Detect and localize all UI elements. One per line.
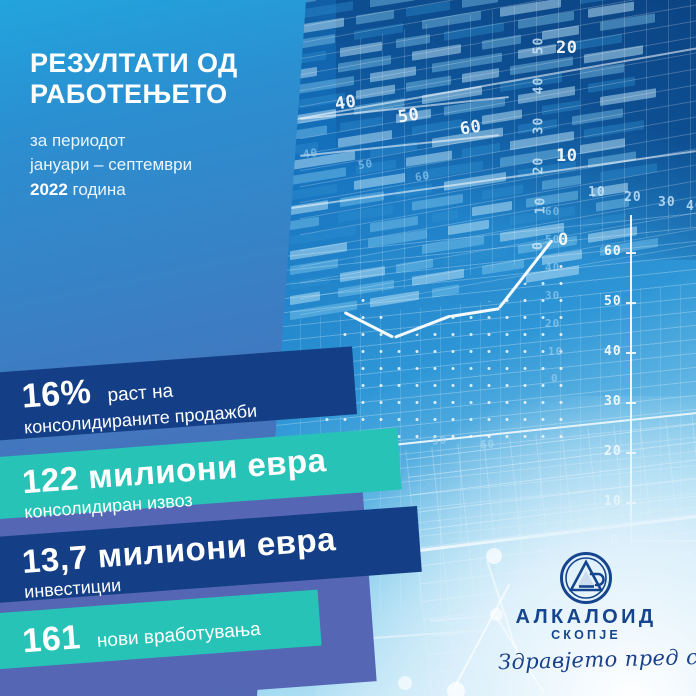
stat-inline-label-sales-growth: раст на: [107, 382, 174, 406]
stat-band-sales-growth-text: 16% раст на консолидираните продажби: [0, 346, 357, 441]
logo-brand-name: АЛКАЛОИД: [498, 607, 674, 627]
alkaloid-logo: АЛКАЛОИД СКОПЈЕ Здравјето пред сѐ: [498, 552, 674, 672]
logo-tagline: Здравјето пред сѐ: [498, 645, 675, 674]
alkaloid-triangle-emblem: [560, 552, 612, 604]
stat-inline-label-new-jobs: нови вработувања: [96, 620, 261, 651]
stat-band-sales-growth: 16% раст на консолидираните продажби: [0, 346, 357, 441]
stat-value-sales-growth: 16%: [21, 375, 93, 414]
logo-brand-city: СКОПЈЕ: [498, 629, 674, 642]
stat-value-new-jobs: 161: [21, 620, 82, 658]
poster-canvas: 40 50 60 40 50 60 50 40 30 20 10 0 20 10…: [0, 0, 696, 696]
